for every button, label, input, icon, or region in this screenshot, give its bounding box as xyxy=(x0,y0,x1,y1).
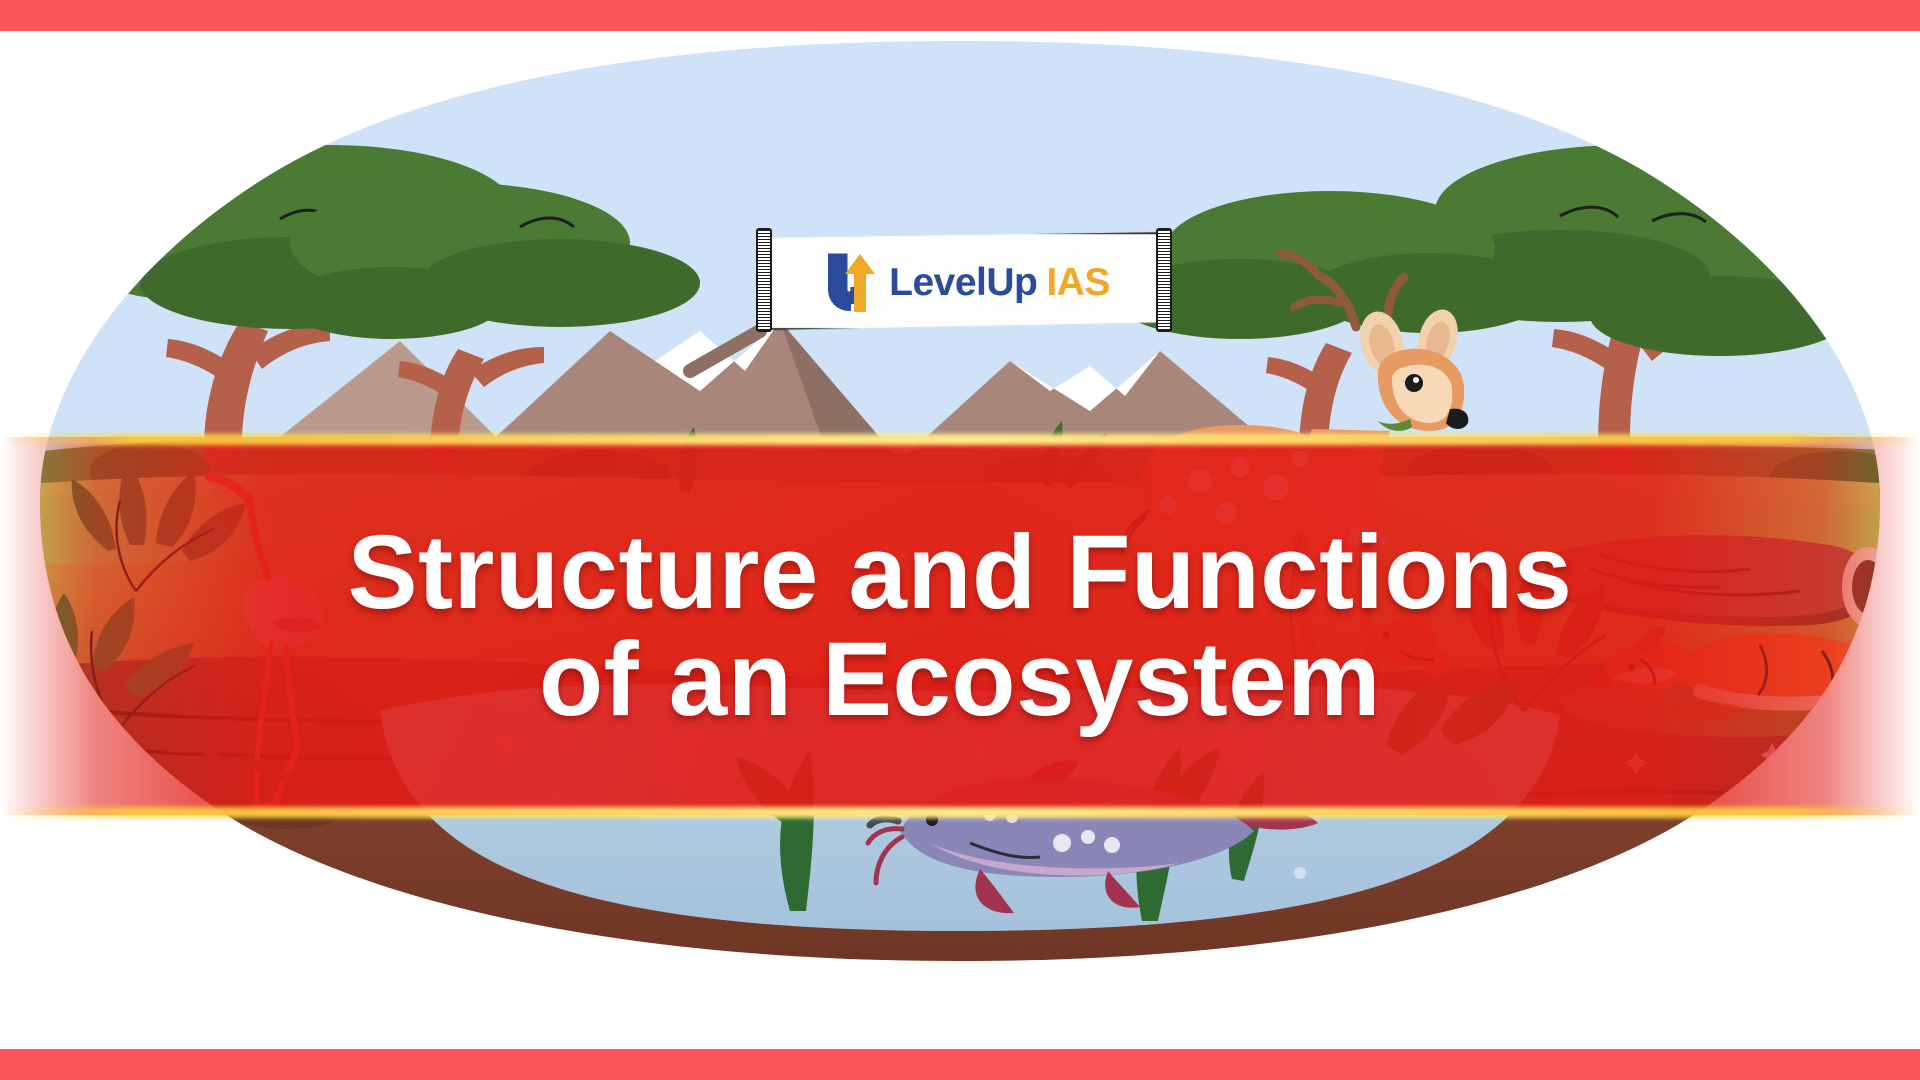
banner-stage: LevelUp IAS Structure and Functions of a… xyxy=(0,0,1920,1080)
title-line-1: Structure and Functions xyxy=(348,514,1573,631)
title-ribbon: Structure and Functions of an Ecosystem xyxy=(0,437,1920,815)
bottom-accent-bar xyxy=(0,1049,1920,1080)
logo-content: LevelUp IAS xyxy=(758,232,1170,330)
logo-word-primary: LevelUp xyxy=(889,261,1037,305)
levelup-arrow-icon xyxy=(818,252,880,314)
page-title: Structure and Functions of an Ecosystem xyxy=(258,519,1663,733)
levelup-ias-logo-banner[interactable]: LevelUp IAS xyxy=(758,232,1170,330)
title-line-2: of an Ecosystem xyxy=(348,626,1573,733)
logo-word-secondary: IAS xyxy=(1046,261,1110,305)
logo-wordmark: LevelUp IAS xyxy=(889,261,1110,305)
top-accent-bar xyxy=(0,0,1920,31)
